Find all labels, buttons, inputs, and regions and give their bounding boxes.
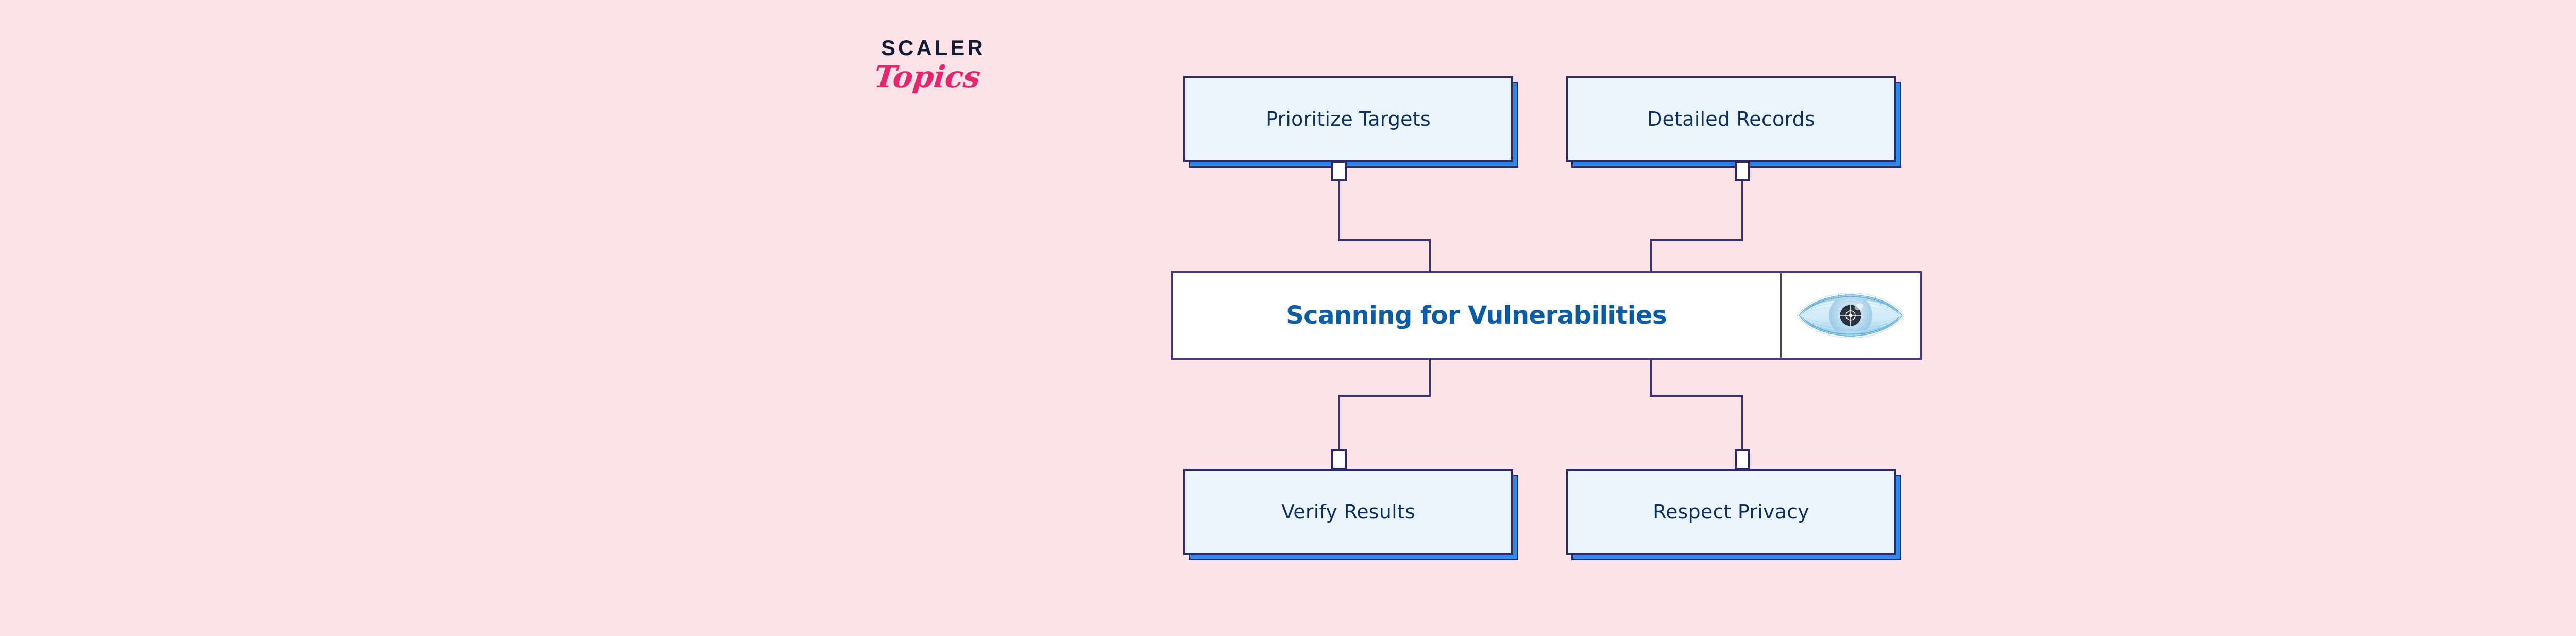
- center-title-cell: Scanning for Vulnerabilities: [1173, 273, 1782, 358]
- node-label: Verify Results: [1281, 500, 1415, 523]
- node-respect-privacy[interactable]: Respect Privacy: [1566, 469, 1896, 555]
- node-verify-results[interactable]: Verify Results: [1183, 469, 1513, 555]
- connector-prioritize-horizontal: [1338, 239, 1431, 241]
- eye-scan-icon: [1782, 273, 1920, 358]
- connector-records-vertical-lower: [1650, 239, 1652, 273]
- connector-prioritize-vertical-upper: [1338, 179, 1340, 241]
- diagram-canvas: SCALER Topics Prioritize Targets Detaile…: [0, 0, 2576, 636]
- logo-primary-text: SCALER: [876, 37, 1030, 59]
- node-face: Verify Results: [1183, 469, 1513, 555]
- connector-verify-vertical-upper: [1429, 358, 1431, 397]
- connector-privacy-vertical-upper: [1650, 358, 1652, 397]
- connector-records-horizontal: [1650, 239, 1743, 241]
- connector-nub-privacy: [1735, 449, 1750, 470]
- connector-privacy-horizontal: [1650, 395, 1743, 397]
- node-prioritize-targets[interactable]: Prioritize Targets: [1183, 76, 1513, 162]
- connector-nub-prioritize: [1331, 161, 1347, 181]
- node-face: Respect Privacy: [1566, 469, 1896, 555]
- node-label: Prioritize Targets: [1266, 108, 1431, 130]
- scaler-topics-logo: SCALER Topics: [876, 37, 1030, 130]
- connector-privacy-vertical-lower: [1741, 395, 1743, 451]
- node-label: Respect Privacy: [1653, 500, 1809, 523]
- logo-secondary-text: Topics: [873, 62, 1030, 92]
- node-detailed-records[interactable]: Detailed Records: [1566, 76, 1896, 162]
- connector-nub-records: [1735, 161, 1750, 181]
- connector-verify-vertical-lower: [1338, 395, 1340, 451]
- center-node-label: Scanning for Vulnerabilities: [1286, 301, 1667, 330]
- node-face: Detailed Records: [1566, 76, 1896, 162]
- node-label: Detailed Records: [1647, 108, 1815, 130]
- node-face: Prioritize Targets: [1183, 76, 1513, 162]
- connector-nub-verify: [1331, 449, 1347, 470]
- connector-verify-horizontal: [1338, 395, 1431, 397]
- connector-records-vertical-upper: [1741, 179, 1743, 241]
- connector-prioritize-vertical-lower: [1429, 239, 1431, 273]
- node-scanning-for-vulnerabilities[interactable]: Scanning for Vulnerabilities: [1171, 271, 1922, 360]
